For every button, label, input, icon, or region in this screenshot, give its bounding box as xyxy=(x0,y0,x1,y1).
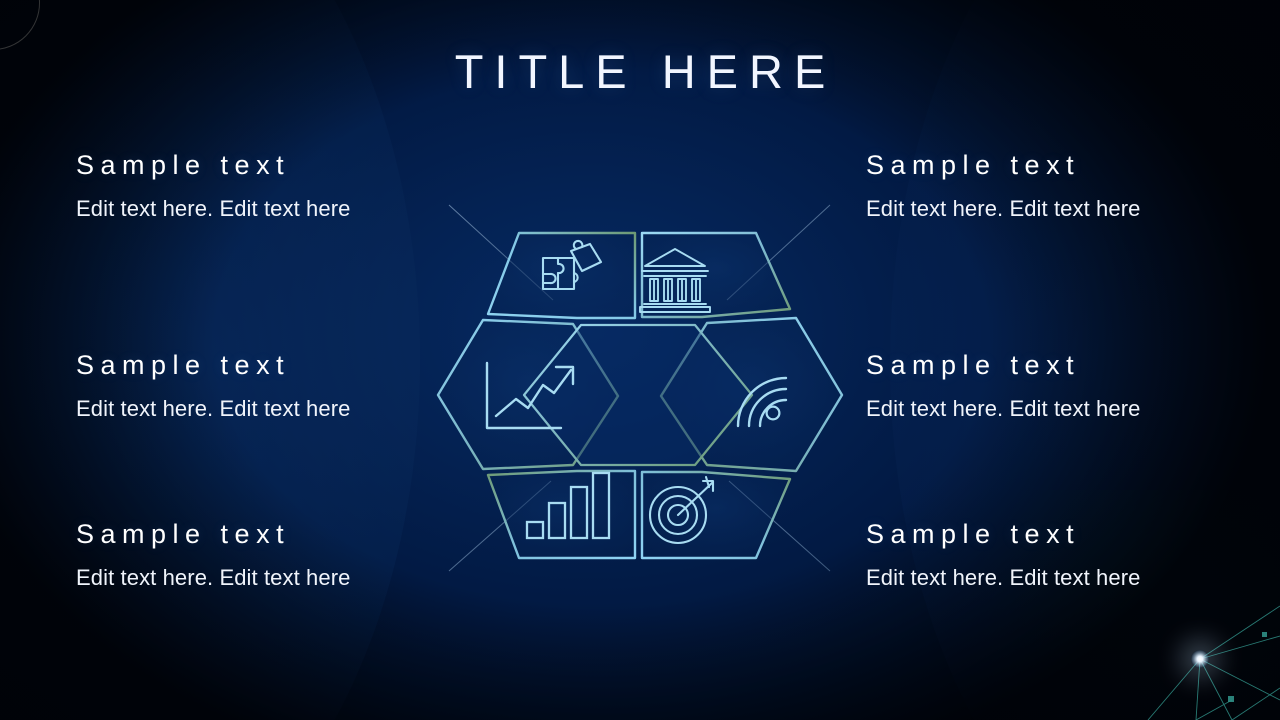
block-body: Edit text here. Edit text here xyxy=(50,549,450,591)
text-block-left-bottom[interactable]: Sample text Edit text here. Edit text he… xyxy=(50,519,450,592)
text-block-right-bottom[interactable]: Sample text Edit text here. Edit text he… xyxy=(852,519,1252,592)
block-heading: Sample text xyxy=(852,519,1252,549)
block-body: Edit text here. Edit text here xyxy=(852,549,1252,591)
hex-segment-top-left[interactable] xyxy=(488,233,635,318)
text-block-left-middle[interactable]: Sample text Edit text here. Edit text he… xyxy=(50,350,450,423)
hex-segment-bottom-left[interactable] xyxy=(488,471,635,558)
block-body: Edit text here. Edit text here xyxy=(852,180,1252,222)
page-title: TITLE HERE xyxy=(0,48,1280,95)
block-heading: Sample text xyxy=(852,150,1252,180)
block-body: Edit text here. Edit text here xyxy=(50,380,450,422)
block-heading: Sample text xyxy=(50,150,450,180)
block-heading: Sample text xyxy=(50,519,450,549)
block-heading: Sample text xyxy=(50,350,450,380)
text-block-right-top[interactable]: Sample text Edit text here. Edit text he… xyxy=(852,150,1252,223)
block-body: Edit text here. Edit text here xyxy=(50,180,450,222)
block-heading: Sample text xyxy=(852,350,1252,380)
network-node-glow-icon xyxy=(1191,650,1209,668)
hex-segment-bottom-right[interactable] xyxy=(642,472,790,558)
text-block-left-top[interactable]: Sample text Edit text here. Edit text he… xyxy=(50,150,450,223)
hexagon-diagram xyxy=(430,215,850,575)
slide-canvas: TITLE HERE xyxy=(0,0,1280,720)
text-block-right-middle[interactable]: Sample text Edit text here. Edit text he… xyxy=(852,350,1252,423)
block-body: Edit text here. Edit text here xyxy=(852,380,1252,422)
